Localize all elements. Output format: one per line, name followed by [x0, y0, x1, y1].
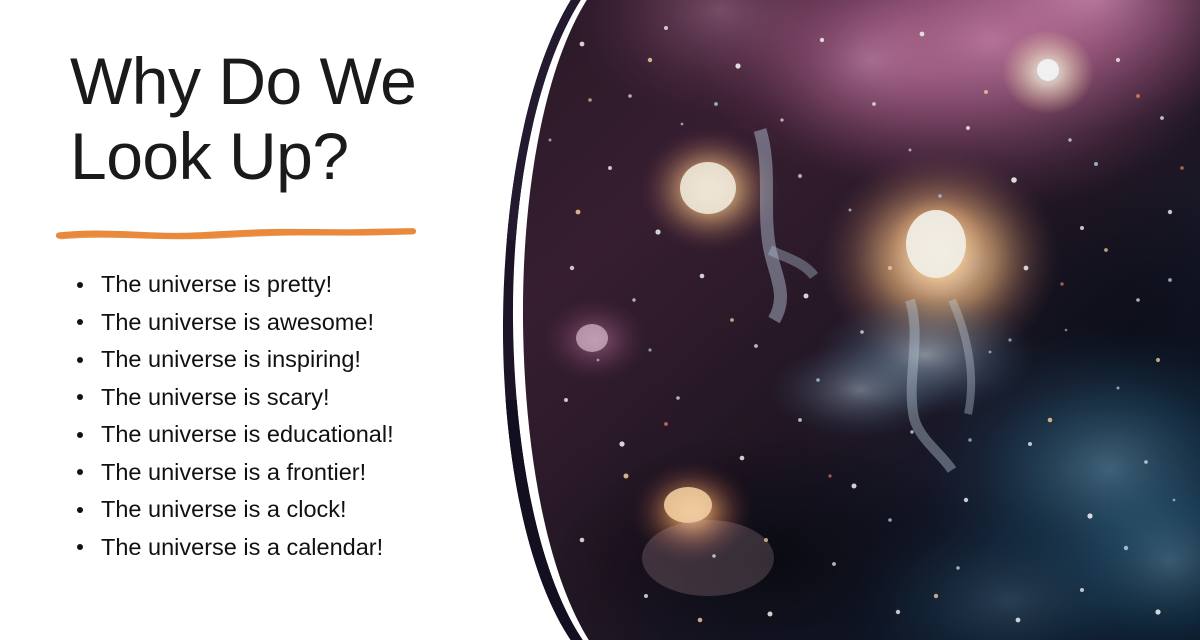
list-item: The universe is educational! [72, 416, 502, 454]
bullet-point-icon [77, 357, 83, 363]
bullet-point-icon [77, 507, 83, 513]
bullet-point-icon [77, 282, 83, 288]
space-nebula-photo [470, 0, 1200, 640]
nebula-image-content [470, 0, 1200, 640]
list-item-label: The universe is scary! [101, 384, 330, 410]
list-item-label: The universe is a frontier! [101, 459, 366, 485]
list-item: The universe is a frontier! [72, 454, 502, 492]
bullet-list: The universe is pretty! The universe is … [72, 266, 502, 566]
bullet-point-icon [77, 469, 83, 475]
page-title: Why Do We Look Up? [70, 44, 490, 194]
list-item-label: The universe is a calendar! [101, 534, 383, 560]
list-item-label: The universe is awesome! [101, 309, 374, 335]
list-item-label: The universe is a clock! [101, 496, 347, 522]
list-item-label: The universe is pretty! [101, 271, 332, 297]
list-item: The universe is a calendar! [72, 529, 502, 567]
list-item: The universe is a clock! [72, 491, 502, 529]
presentation-slide: Why Do We Look Up? The universe is prett… [0, 0, 1200, 640]
list-item: The universe is scary! [72, 379, 502, 417]
list-item: The universe is inspiring! [72, 341, 502, 379]
bullet-point-icon [77, 544, 83, 550]
title-divider [55, 218, 427, 250]
list-item-label: The universe is educational! [101, 421, 394, 447]
text-column: Why Do We Look Up? The universe is prett… [0, 0, 520, 640]
bullet-point-icon [77, 319, 83, 325]
bullet-point-icon [77, 394, 83, 400]
list-item: The universe is pretty! [72, 266, 502, 304]
bullet-point-icon [77, 432, 83, 438]
list-item: The universe is awesome! [72, 304, 502, 342]
list-item-label: The universe is inspiring! [101, 346, 361, 372]
